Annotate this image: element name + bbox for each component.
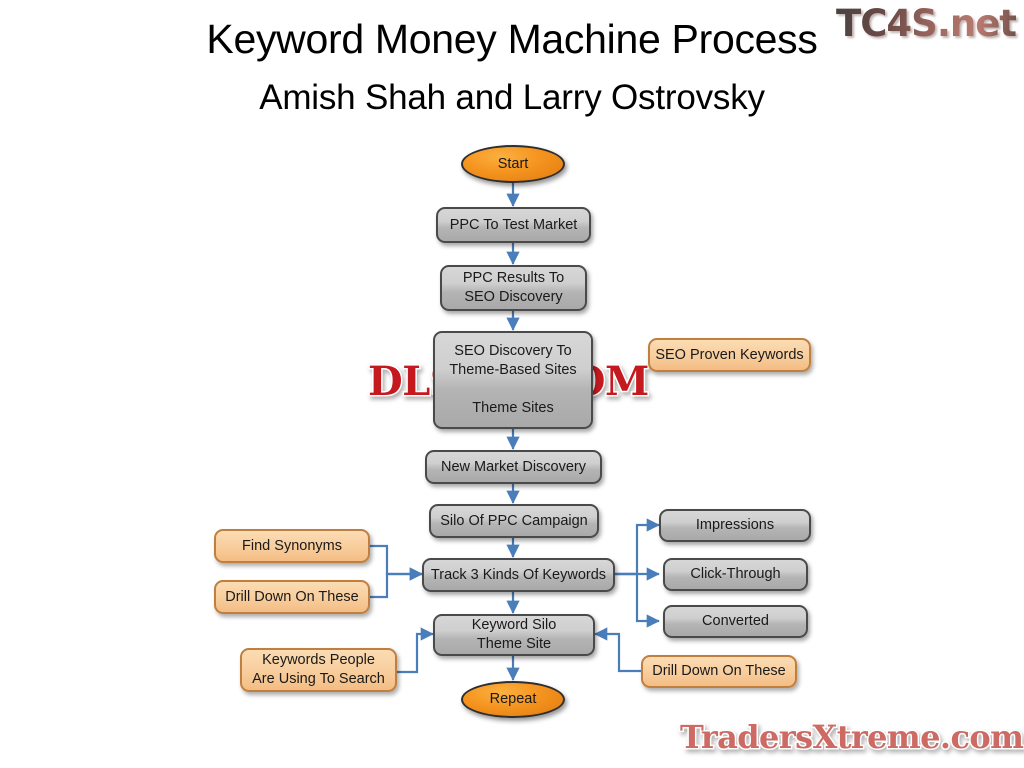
node-drill-down-on-these-left[interactable]: Drill Down On These	[214, 580, 370, 614]
node-ppc-results-to-seo-discovery[interactable]: PPC Results To SEO Discovery	[440, 265, 587, 311]
node-impressions-label: Impressions	[661, 516, 809, 535]
node-start[interactable]: Start	[461, 145, 565, 183]
edge-track3-to-converted	[615, 574, 659, 621]
node-keywords-people-are-using-to-search[interactable]: Keywords People Are Using To Search	[240, 648, 397, 692]
node-keywords-people-are-using-to-search-label: Keywords People Are Using To Search	[242, 651, 395, 689]
node-seo-discovery-to-theme-based-sites-label: SEO Discovery To Theme-Based Sites Theme…	[435, 342, 591, 417]
node-converted[interactable]: Converted	[663, 605, 808, 638]
node-keyword-silo-theme-site-label: Keyword Silo Theme Site	[435, 616, 593, 654]
node-track-3-kinds-of-keywords-label: Track 3 Kinds Of Keywords	[424, 566, 613, 585]
node-repeat[interactable]: Repeat	[461, 681, 565, 718]
node-new-market-discovery[interactable]: New Market Discovery	[425, 450, 602, 484]
edge-drill-right-to-silo	[595, 634, 641, 671]
node-click-through-label: Click-Through	[665, 565, 806, 584]
node-find-synonyms[interactable]: Find Synonyms	[214, 529, 370, 563]
node-click-through[interactable]: Click-Through	[663, 558, 808, 591]
node-keyword-silo-theme-site[interactable]: Keyword Silo Theme Site	[433, 614, 595, 656]
edge-find-synonyms-to-track3	[370, 546, 422, 574]
node-repeat-label: Repeat	[463, 690, 563, 709]
node-start-label: Start	[463, 155, 563, 174]
node-ppc-to-test-market-label: PPC To Test Market	[438, 216, 589, 235]
node-seo-proven-keywords-label: SEO Proven Keywords	[650, 346, 809, 365]
node-new-market-discovery-label: New Market Discovery	[427, 458, 600, 477]
node-find-synonyms-label: Find Synonyms	[216, 537, 368, 556]
node-drill-down-on-these-right-label: Drill Down On These	[643, 662, 795, 681]
node-drill-down-on-these-left-label: Drill Down On These	[216, 588, 368, 607]
edge-keywords-people-to-silo	[397, 634, 433, 672]
node-impressions[interactable]: Impressions	[659, 509, 811, 542]
edge-drill-left-to-track3	[370, 574, 422, 597]
node-track-3-kinds-of-keywords[interactable]: Track 3 Kinds Of Keywords	[422, 558, 615, 592]
edge-track3-to-impressions	[615, 525, 659, 574]
node-drill-down-on-these-right[interactable]: Drill Down On These	[641, 655, 797, 688]
node-seo-proven-keywords[interactable]: SEO Proven Keywords	[648, 338, 811, 372]
node-silo-of-ppc-campaign-label: Silo Of PPC Campaign	[431, 512, 597, 531]
node-converted-label: Converted	[665, 612, 806, 631]
node-silo-of-ppc-campaign[interactable]: Silo Of PPC Campaign	[429, 504, 599, 538]
node-ppc-results-to-seo-discovery-label: PPC Results To SEO Discovery	[442, 269, 585, 307]
node-ppc-to-test-market[interactable]: PPC To Test Market	[436, 207, 591, 243]
node-seo-discovery-to-theme-based-sites[interactable]: SEO Discovery To Theme-Based Sites Theme…	[433, 331, 593, 429]
